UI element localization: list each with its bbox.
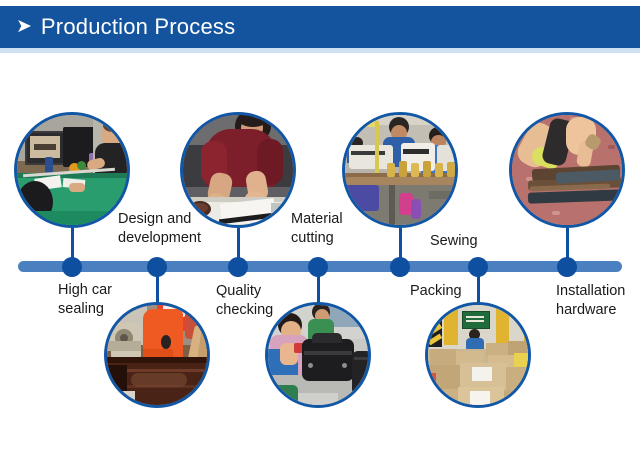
- timeline-node[interactable]: [557, 257, 577, 277]
- triangle-right-icon: ➤: [16, 17, 32, 36]
- step-photo-high-car-sealing[interactable]: [14, 112, 130, 228]
- photo-scene: [183, 115, 293, 225]
- timeline-node[interactable]: [390, 257, 410, 277]
- photo-scene: [17, 115, 127, 225]
- timeline-node[interactable]: [147, 257, 167, 277]
- step-label-installation-hardware: Installation hardware: [556, 282, 625, 320]
- step-photo-packing[interactable]: [265, 302, 371, 408]
- photo-scene: [345, 115, 455, 225]
- timeline-node[interactable]: [62, 257, 82, 277]
- header-accent-strip: [0, 48, 640, 53]
- step-photo-quality-checking[interactable]: [104, 302, 210, 408]
- step-label-design-and-development: Design and development: [118, 210, 201, 248]
- header-bar: ➤ Production Process: [0, 6, 640, 48]
- step-label-sewing: Sewing: [430, 232, 478, 251]
- photo-scene: [512, 115, 622, 225]
- step-photo-installation-hardware[interactable]: [425, 302, 531, 408]
- page-title: Production Process: [41, 14, 235, 40]
- step-label-quality-checking: Quality checking: [216, 282, 273, 320]
- photo-scene: [428, 305, 528, 405]
- step-label-material-cutting: Material cutting: [291, 210, 343, 248]
- step-photo-material-cutting[interactable]: [342, 112, 458, 228]
- step-label-high-car-sealing: High car sealing: [58, 281, 112, 319]
- timeline-node[interactable]: [228, 257, 248, 277]
- photo-scene: [268, 305, 368, 405]
- step-label-packing: Packing: [410, 282, 462, 301]
- timeline-node[interactable]: [308, 257, 328, 277]
- step-photo-sewing[interactable]: [509, 112, 625, 228]
- photo-scene: [107, 305, 207, 405]
- timeline-node[interactable]: [468, 257, 488, 277]
- production-process-infographic: ➤ Production Process: [0, 0, 640, 460]
